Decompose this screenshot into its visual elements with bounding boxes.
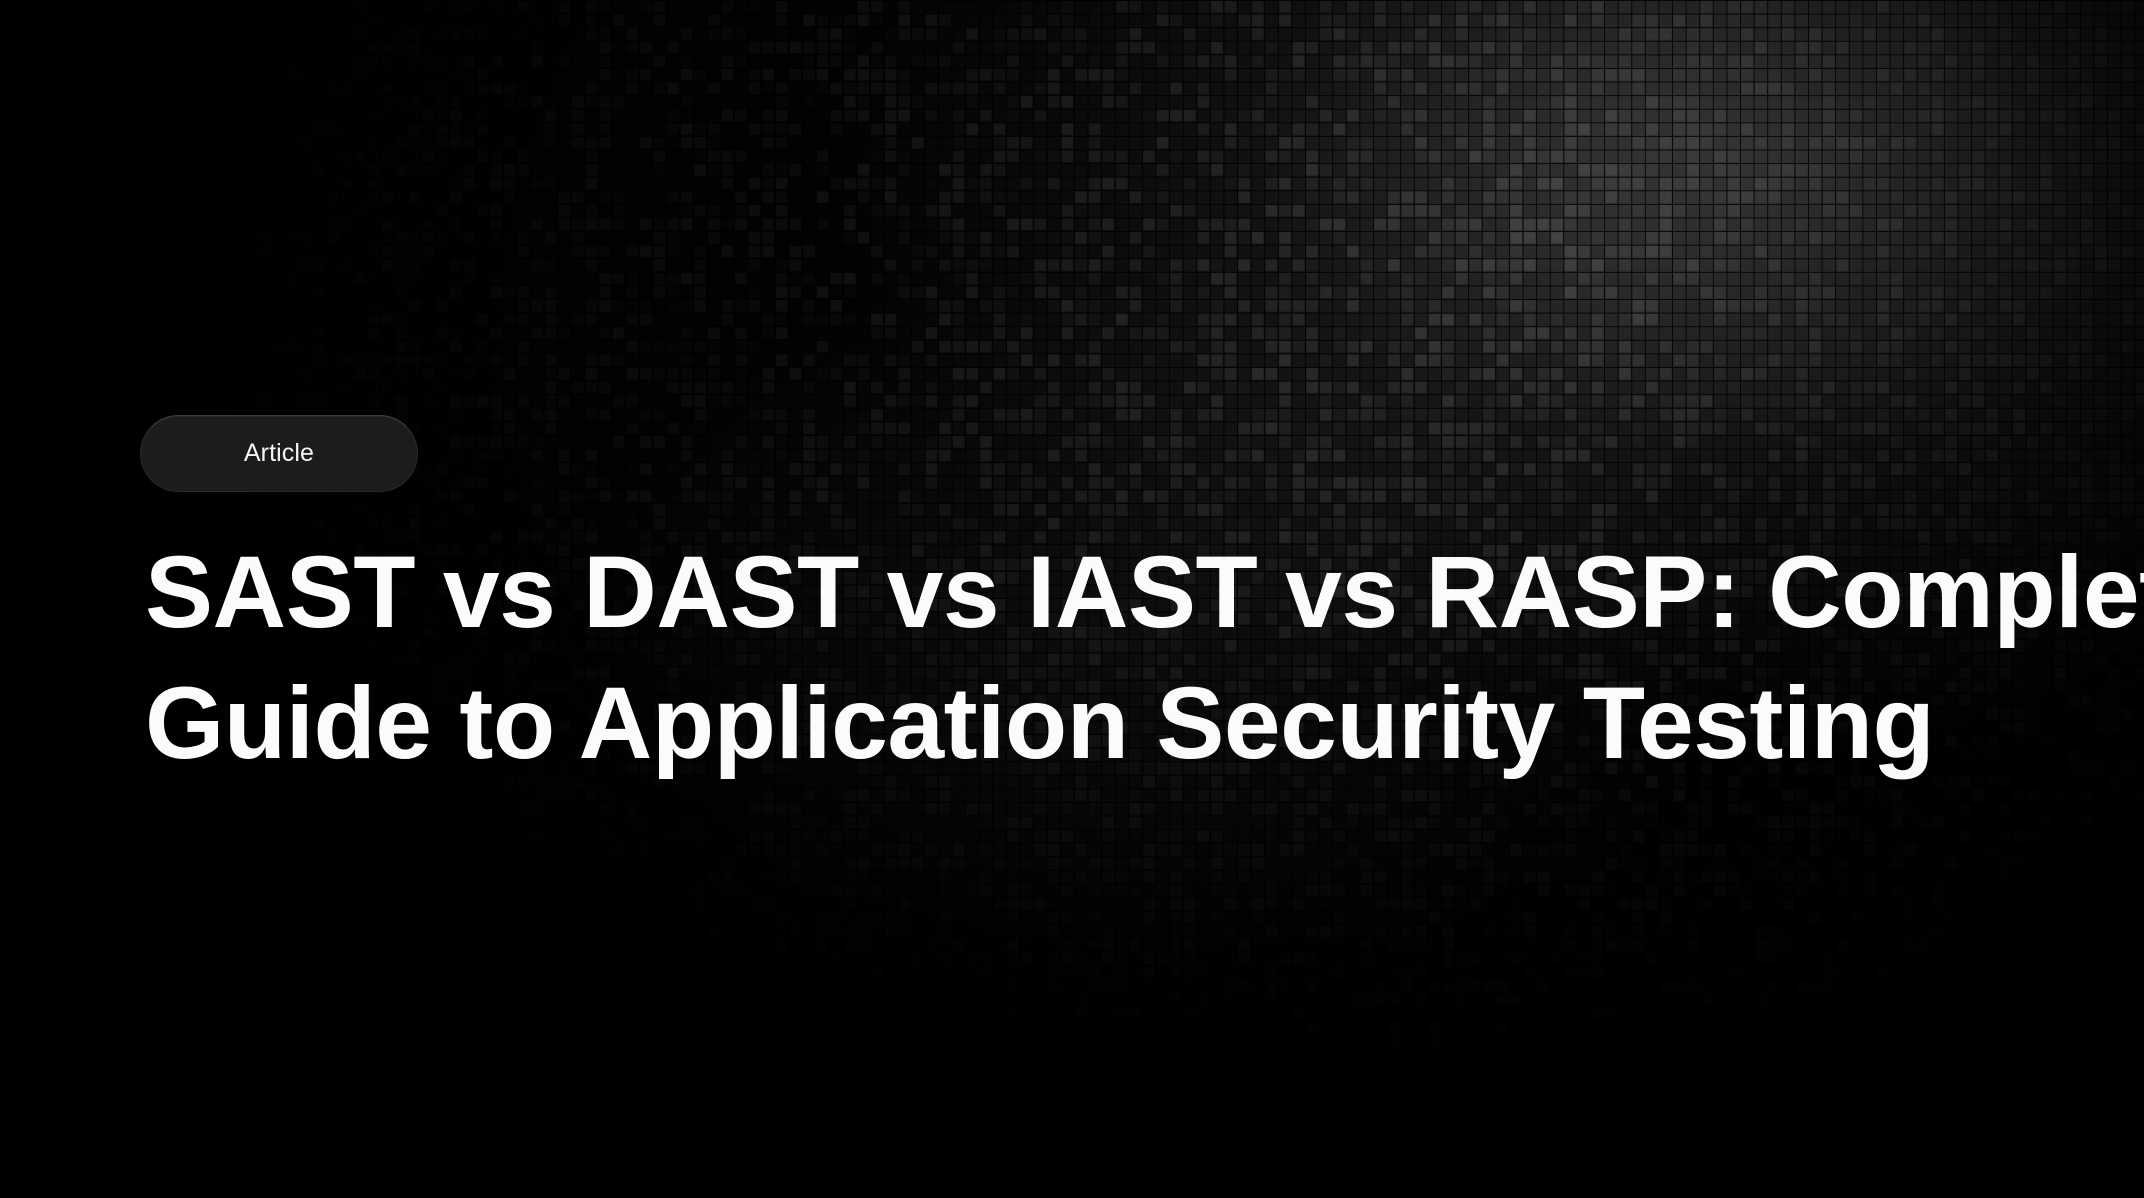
article-hero-banner: Article SAST vs DAST vs IAST vs RASP: Co… xyxy=(0,0,2144,1198)
page-title: SAST vs DAST vs IAST vs RASP: Complete G… xyxy=(145,527,2105,789)
hero-content: Article SAST vs DAST vs IAST vs RASP: Co… xyxy=(140,0,2100,1198)
article-type-badge-label: Article xyxy=(244,441,314,466)
page-title-line-1: SAST vs DAST vs IAST vs RASP: Complete xyxy=(145,527,2105,658)
article-type-badge[interactable]: Article xyxy=(140,415,418,492)
page-title-line-2: Guide to Application Security Testing xyxy=(145,658,2105,789)
